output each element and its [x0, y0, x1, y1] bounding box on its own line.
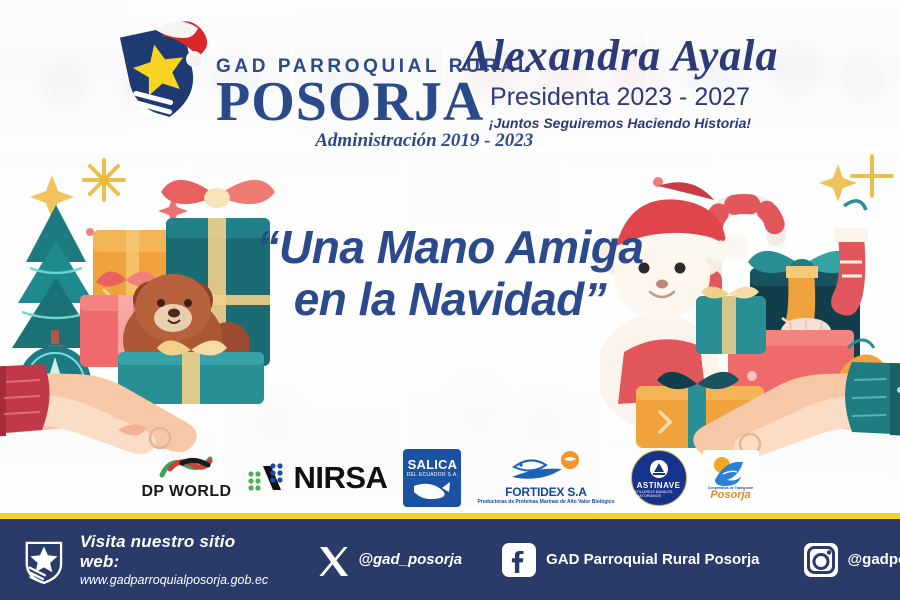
sponsor-name: DP WORLD [141, 483, 231, 501]
campaign-slogan: “Una Mano Amiga en la Navidad” [232, 222, 668, 325]
gad-shield-outline-icon [22, 534, 66, 586]
sponsor-nirsa: NIRSA [247, 460, 387, 496]
sponsor-salica: SALICA DEL ECUADOR S.A. [403, 449, 461, 507]
president-name: Alexandra Ayala [455, 34, 785, 78]
campaign-motto: ¡Juntos Seguiremos Haciendo Historia! [455, 115, 785, 131]
president-block: Alexandra Ayala Presidenta 2023 - 2027 ¡… [455, 34, 785, 131]
sponsor-name: FORTIDEX S.A [505, 485, 587, 499]
sponsor-dp-world: DP WORLD [141, 455, 231, 501]
footer-x-handle: @gad_posorja [358, 551, 462, 568]
fortidex-fish-logo [508, 451, 584, 485]
sponsor-cooperativa-posorja: Cooperativa de Transporte Posorja [703, 450, 759, 506]
banner-footer: Visita nuestro sitio web: www.gadparroqu… [0, 519, 900, 600]
salica-whale-logo [412, 478, 452, 500]
sponsor-subtitle: Productoras de Proteínas Marinas de Alto… [477, 499, 614, 505]
banner-header: GAD PARROQUIAL RURAL POSORJA Administrac… [0, 0, 900, 152]
sponsor-name: SALICA [408, 457, 458, 472]
sponsor-subtitle: ASTILLEROS NAVALES ECUATORIANOS [632, 490, 686, 498]
sponsor-fortidex: FORTIDEX S.A Productoras de Proteínas Ma… [477, 451, 614, 505]
x-twitter-icon [316, 544, 348, 576]
president-role: Presidenta 2023 - 2027 [455, 84, 785, 112]
footer-social-x[interactable]: @gad_posorja [316, 544, 462, 576]
sponsor-astinave: ASTINAVE ASTILLEROS NAVALES ECUATORIANOS [631, 450, 687, 506]
gad-shield-star-santa-hat-icon [112, 14, 208, 134]
astinave-anchor-logo [649, 459, 669, 479]
instagram-icon [804, 543, 838, 577]
footer-social-instagram[interactable]: @gadposorja [804, 543, 900, 577]
sponsor-logos-row: DP WORLD NIRSA SALICA DEL ECUADOR S [0, 444, 900, 512]
footer-website-url[interactable]: www.gadparroquialposorja.gob.ec [80, 573, 270, 587]
slogan-line-1: “Una Mano Amiga [232, 222, 668, 274]
footer-website-title: Visita nuestro sitio web: [80, 532, 270, 572]
administration-period: Administración 2019 - 2023 [216, 130, 533, 152]
sponsor-name: NIRSA [293, 460, 387, 496]
footer-facebook-handle: GAD Parroquial Rural Posorja [546, 551, 759, 568]
dolphin-sun-logo [709, 456, 753, 486]
footer-instagram-handle: @gadposorja [848, 551, 900, 568]
footer-website-block[interactable]: Visita nuestro sitio web: www.gadparroqu… [0, 532, 270, 587]
dp-world-swoosh-logo [158, 455, 214, 481]
nirsa-dots-logo [247, 460, 289, 496]
footer-social-facebook[interactable]: GAD Parroquial Rural Posorja [502, 543, 759, 577]
sponsor-name: ASTINAVE [637, 481, 681, 490]
slogan-line-2: en la Navidad” [232, 274, 668, 326]
sponsor-name: Posorja [710, 489, 750, 501]
facebook-icon [502, 543, 536, 577]
christmas-campaign-banner: GAD PARROQUIAL RURAL POSORJA Administrac… [0, 0, 900, 600]
